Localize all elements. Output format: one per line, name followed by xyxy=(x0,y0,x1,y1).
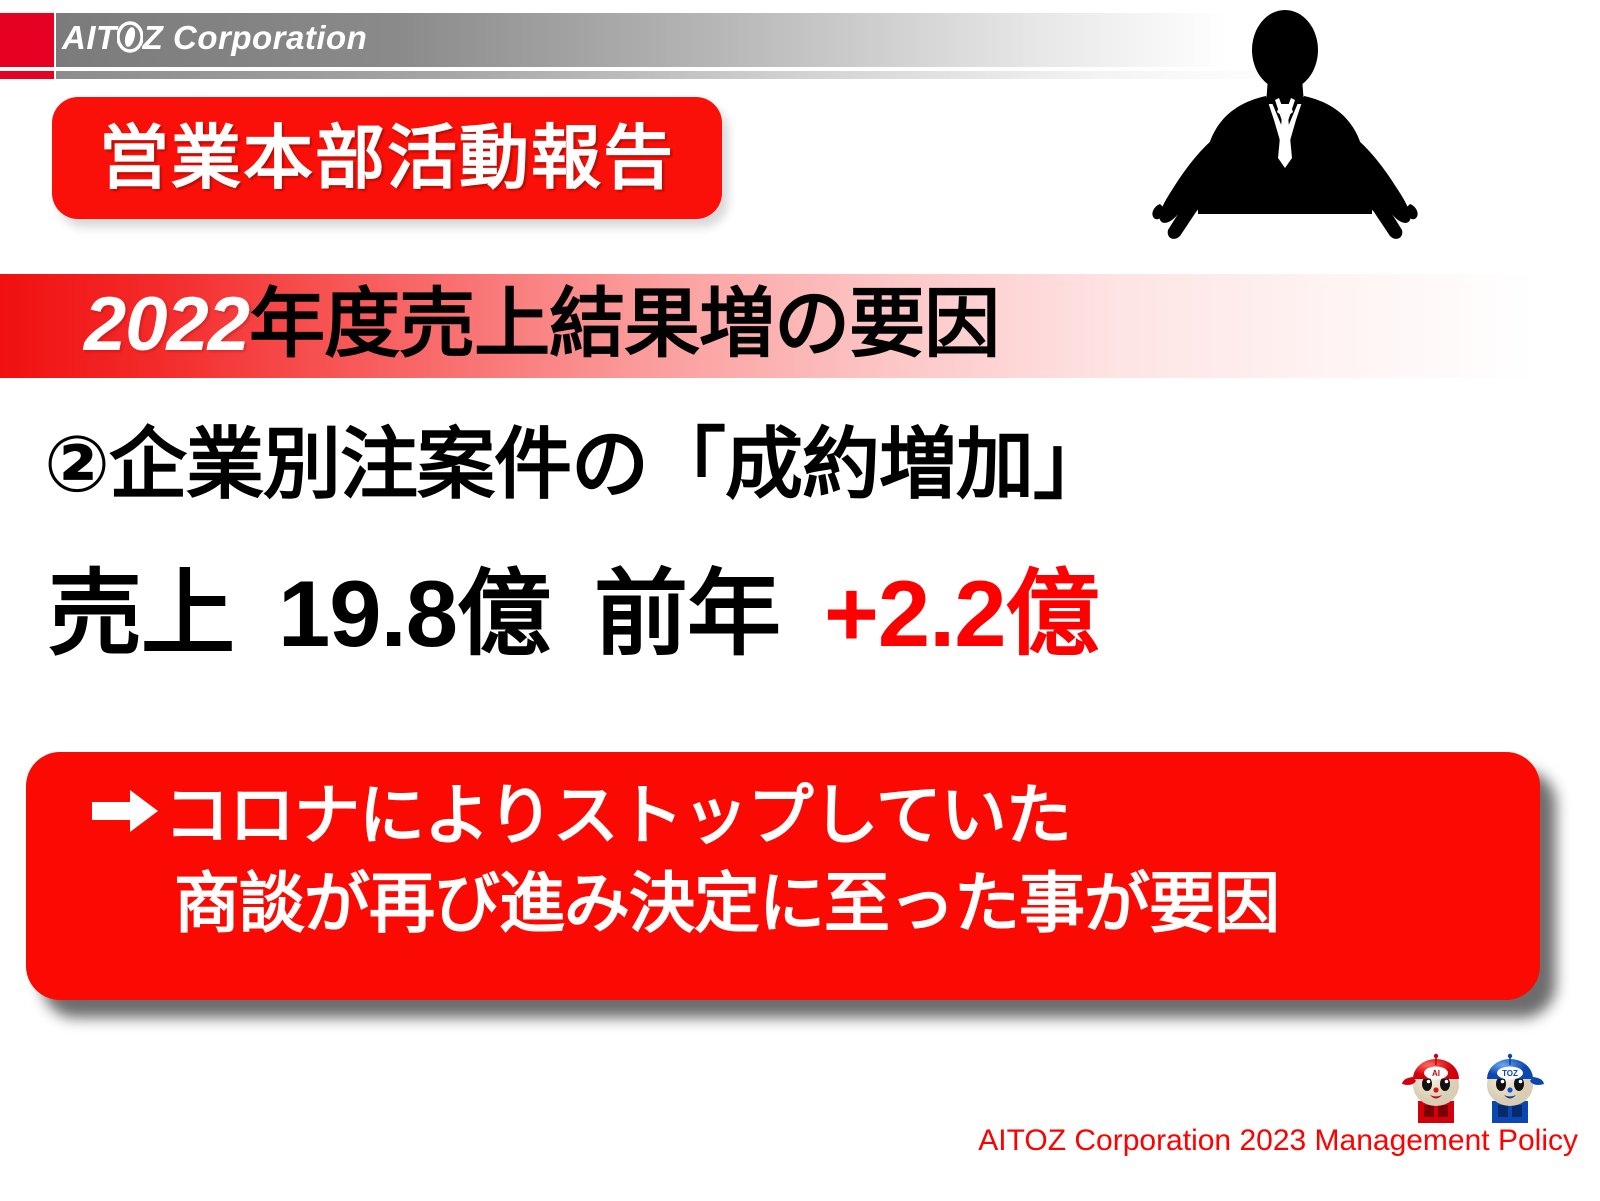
section-badge-label: 営業本部活動報告 xyxy=(99,123,675,193)
conclusion-line-1: コロナによりストップしていた xyxy=(90,778,1071,854)
prior-year-label: 前年 xyxy=(594,561,780,666)
logo-text-prefix: AIT xyxy=(62,19,117,56)
mascot-characters: AI TOZ xyxy=(1400,1027,1548,1123)
section-badge: 営業本部活動報告 xyxy=(52,97,722,219)
page-title: 2022年度売上結果増の要因 xyxy=(84,283,999,367)
sales-summary-line: 売上19.8億前年+2.2億 xyxy=(48,562,1099,665)
businessman-silhouette-icon xyxy=(1120,8,1450,243)
sales-value: 19.8億 xyxy=(278,561,550,666)
header-red-accent-block xyxy=(0,13,54,67)
page-title-year: 2022 xyxy=(84,282,249,367)
right-arrow-icon xyxy=(90,774,160,850)
company-logo-wordmark: AIT Z Corporation xyxy=(62,19,367,57)
sales-label: 売上 xyxy=(48,561,234,666)
right-mascot-cap-text: TOZ xyxy=(1502,1069,1518,1078)
conclusion-callout-box: コロナによりストップしていた 商談が再び進み決定に至った事が要因 xyxy=(26,752,1540,1000)
footer-copyright: AITOZ Corporation 2023 Management Policy xyxy=(0,1124,1578,1158)
page-title-rest: 年度売上結果増の要因 xyxy=(249,282,999,367)
left-mascot-cap-text: AI xyxy=(1432,1069,1440,1078)
logo-text-suffix: Z xyxy=(143,19,164,56)
conclusion-line-1-text: コロナによりストップしていた xyxy=(164,778,1071,852)
sales-delta-value: +2.2億 xyxy=(824,561,1099,666)
logo-text-company: Corporation xyxy=(163,19,367,56)
title-thin-stripe xyxy=(0,256,1600,265)
logo-o-mark-icon xyxy=(117,19,143,57)
header-accent-underline-red xyxy=(0,71,54,79)
point-heading: ②企業別注案件の「成約増加」 xyxy=(44,422,1110,508)
conclusion-line-2: 商談が再び進み決定に至った事が要因 xyxy=(174,866,1279,942)
